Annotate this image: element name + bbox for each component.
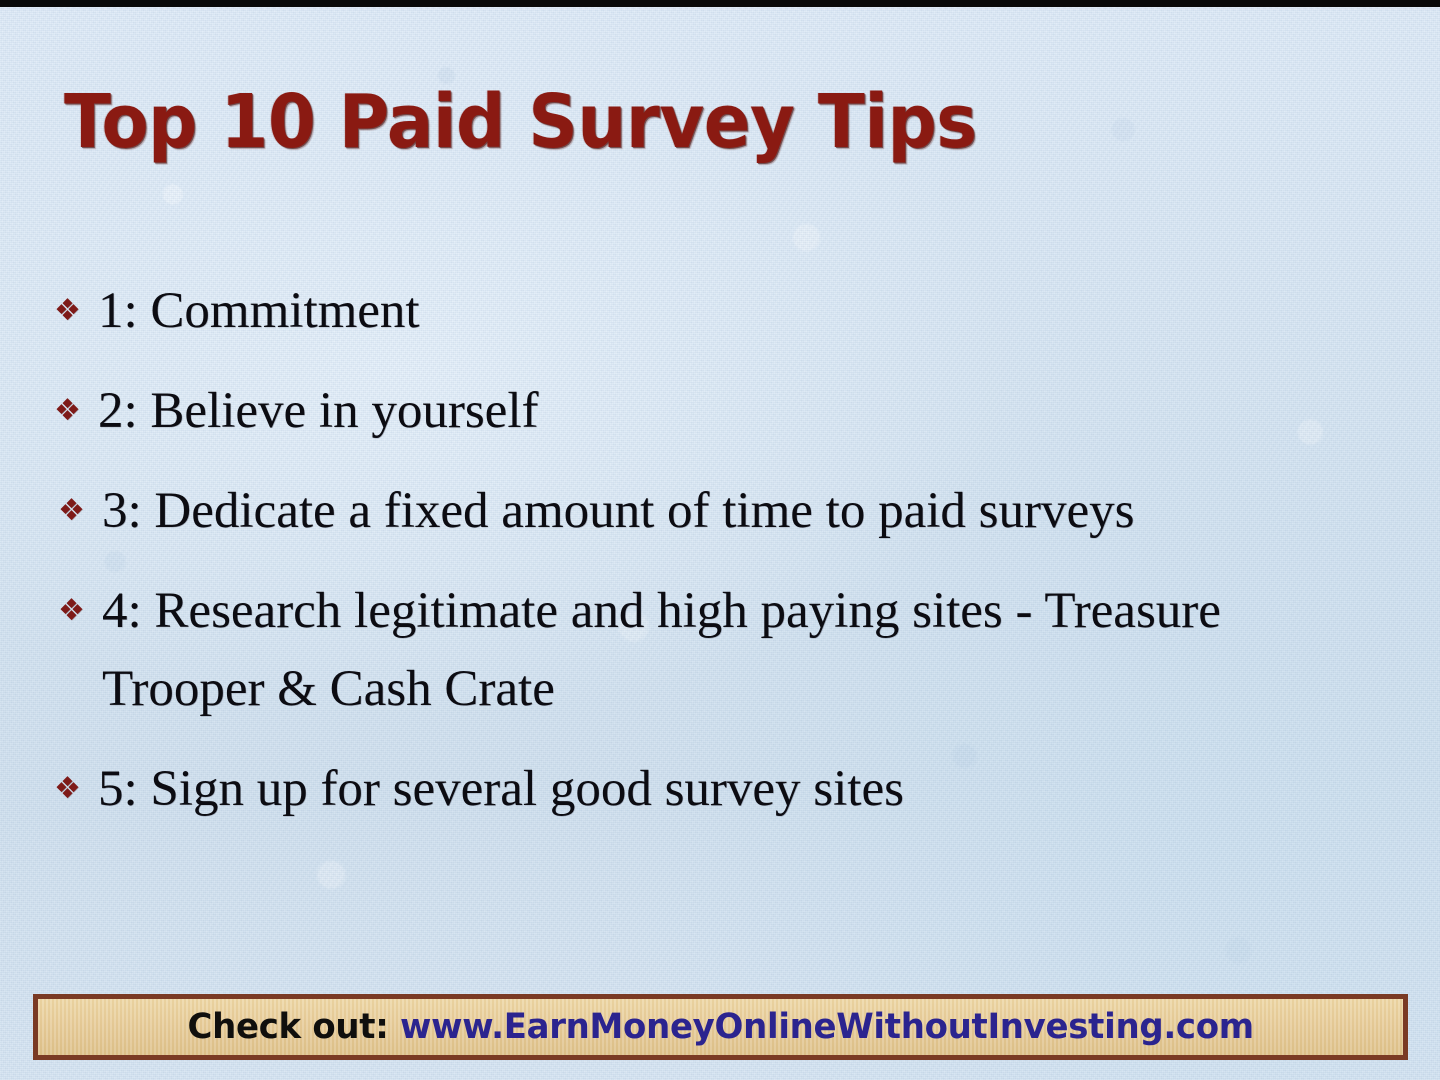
footer-banner: Check out: www.EarnMoneyOnlineWithoutInv…: [33, 994, 1408, 1060]
list-item: ❖ 3: Dedicate a fixed amount of time to …: [56, 472, 1392, 550]
letterbox-bar-top: [0, 0, 1440, 7]
list-item: ❖ 2: Believe in yourself: [56, 372, 1392, 450]
diamond-bullet-icon: ❖: [58, 372, 94, 450]
list-item-label: 2: Believe in yourself: [98, 383, 538, 439]
tips-list: ❖ 1: Commitment ❖ 2: Believe in yourself…: [56, 272, 1392, 850]
list-item-label: 4: Research legitimate and high paying s…: [102, 583, 1221, 717]
list-item: ❖ 4: Research legitimate and high paying…: [56, 572, 1392, 728]
diamond-bullet-icon: ❖: [58, 750, 94, 828]
footer-label: Check out:: [187, 1007, 400, 1047]
list-item-label: 1: Commitment: [98, 283, 420, 339]
list-item: ❖ 5: Sign up for several good survey sit…: [56, 750, 1392, 828]
diamond-bullet-icon: ❖: [58, 472, 94, 550]
diamond-bullet-icon: ❖: [58, 572, 94, 650]
footer-website-url[interactable]: www.EarnMoneyOnlineWithoutInvesting.com: [400, 1007, 1254, 1047]
footer-callout: Check out: www.EarnMoneyOnlineWithoutInv…: [187, 1008, 1253, 1046]
list-item-label: 5: Sign up for several good survey sites: [98, 761, 904, 817]
list-item: ❖ 1: Commitment: [56, 272, 1392, 350]
presentation-slide: Top 10 Paid Survey Tips ❖ 1: Commitment …: [0, 0, 1440, 1080]
slide-title: Top 10 Paid Survey Tips: [64, 79, 1273, 165]
diamond-bullet-icon: ❖: [58, 272, 94, 350]
list-item-label: 3: Dedicate a fixed amount of time to pa…: [102, 483, 1134, 539]
